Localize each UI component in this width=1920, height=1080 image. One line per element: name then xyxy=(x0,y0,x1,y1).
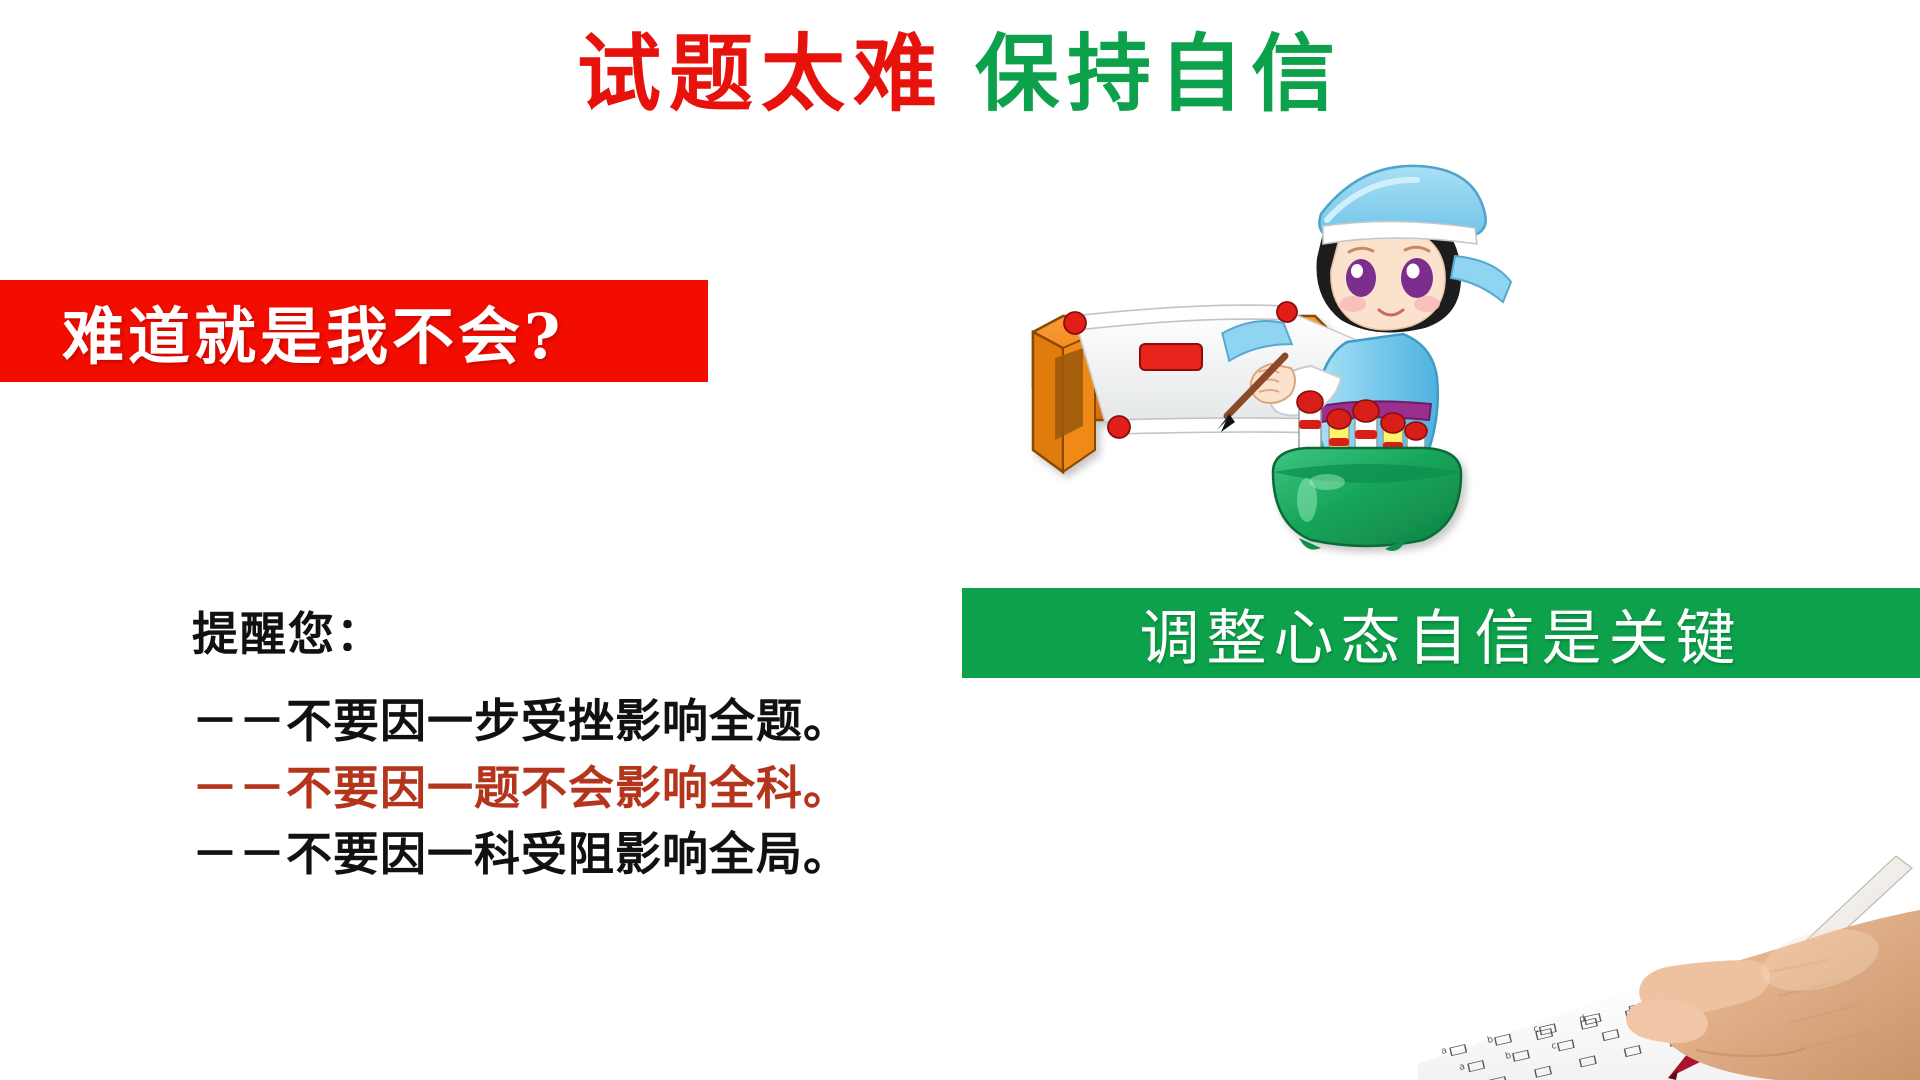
hand-with-pen-photo: a b c d a b c xyxy=(1300,660,1920,1080)
title-green-part: 保持自信 xyxy=(975,24,1343,123)
title-red-part: 试题太难 xyxy=(577,24,945,123)
cartoon-illustration-svg xyxy=(955,120,1515,570)
page-title: 试题太难保持自信 xyxy=(0,28,1920,120)
reminder-text-block: 提醒您： －－不要因一步受挫影响全题。 －－不要因一题不会影响全科。 －－不要因… xyxy=(192,598,892,888)
reminder-line-1: －－不要因一步受挫影响全题。 xyxy=(192,688,892,755)
hand-photo-svg: a b c d a b c xyxy=(1300,660,1920,1080)
cartoon-girl-writing-illustration xyxy=(955,120,1515,570)
red-question-banner: 难道就是我不会? xyxy=(0,280,708,382)
red-banner-text: 难道就是我不会? xyxy=(62,286,564,376)
reminder-heading: 提醒您： xyxy=(192,598,892,664)
reminder-line-2: －－不要因一题不会影响全科。 xyxy=(192,755,892,822)
svg-text:a: a xyxy=(1440,1046,1448,1057)
reminder-line-3: －－不要因一科受阻影响全局。 xyxy=(192,821,892,888)
slide-canvas: 试题太难保持自信 难道就是我不会? xyxy=(0,0,1920,1080)
